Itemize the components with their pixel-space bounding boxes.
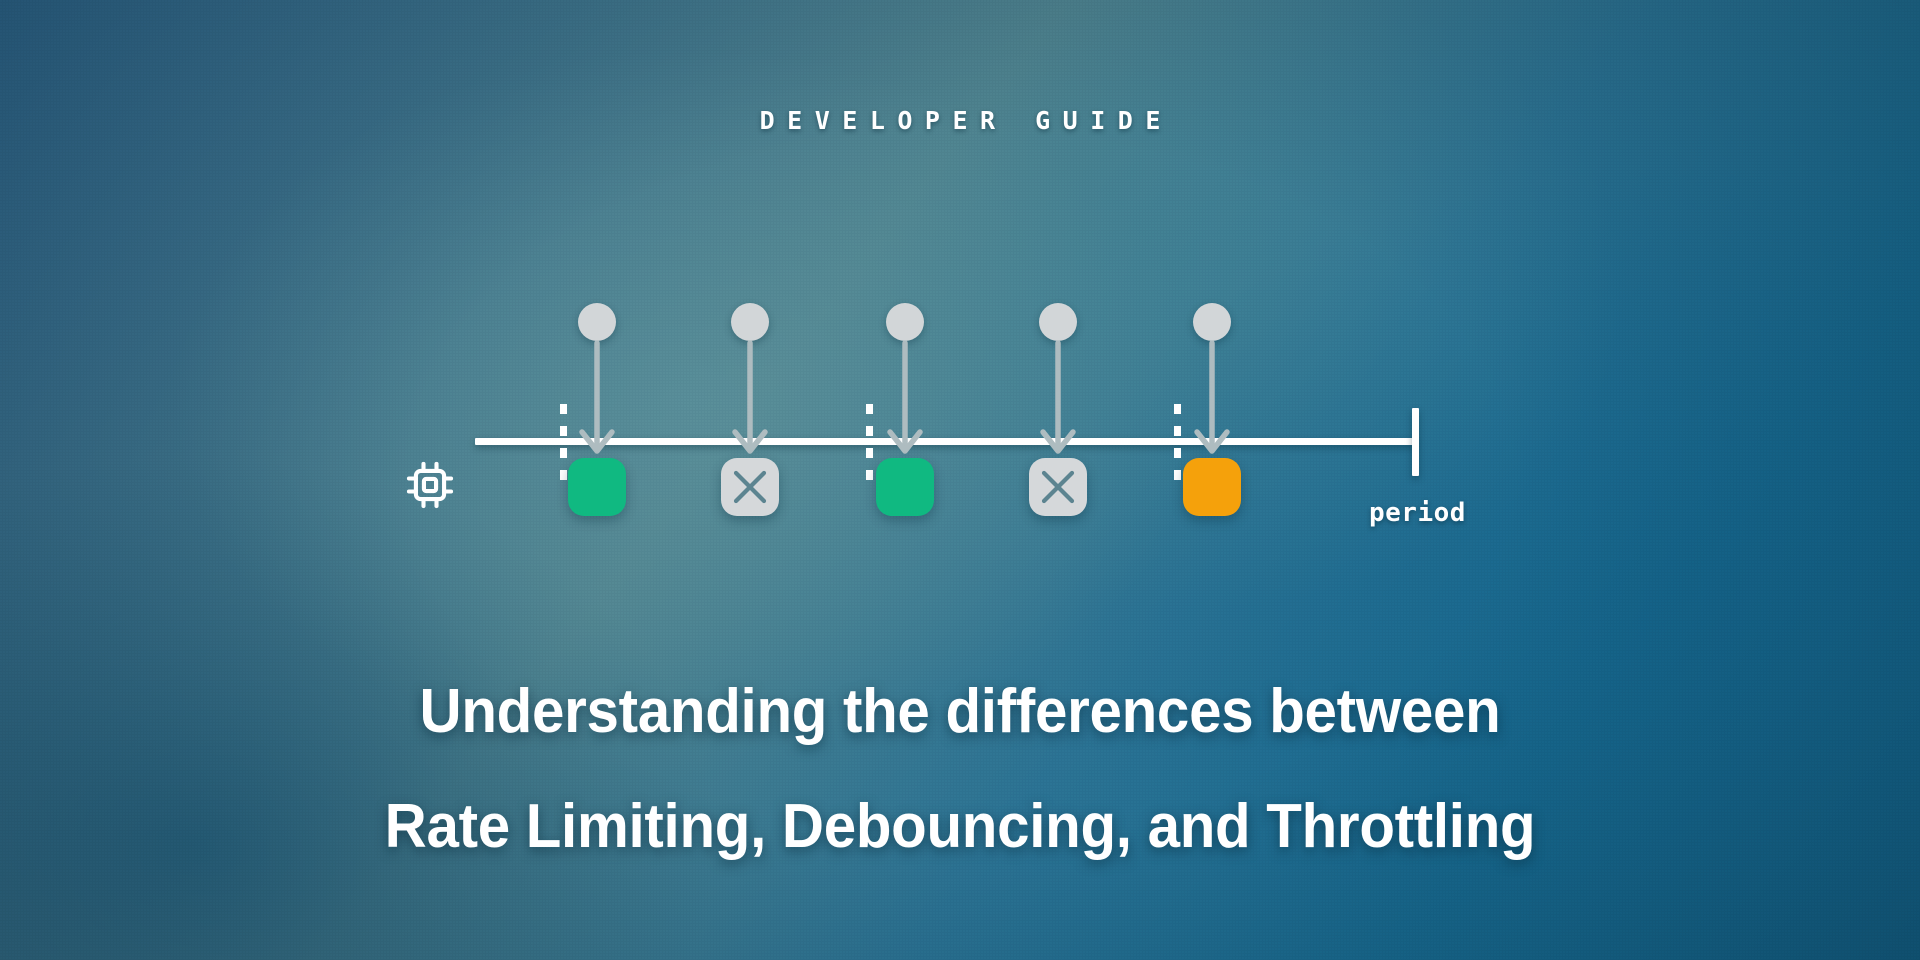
circle-event-dot[interactable]: [578, 303, 616, 341]
circle-event-dot[interactable]: [731, 303, 769, 341]
x-mark-icon: [1029, 458, 1087, 516]
period-marker: [560, 404, 567, 481]
arrow-down-icon: [1036, 337, 1080, 469]
period-marker: [866, 404, 873, 481]
arrow-down-icon: [1190, 337, 1234, 469]
timeline-end-tick: [1412, 408, 1419, 476]
cpu-chip-icon: [404, 459, 456, 511]
request-slot-queued[interactable]: [1183, 458, 1241, 516]
request-slot-allowed[interactable]: [568, 458, 626, 516]
circle-event-dot[interactable]: [1039, 303, 1077, 341]
x-mark-icon: [721, 458, 779, 516]
period-marker: [1174, 404, 1181, 481]
arrow-down-icon: [728, 337, 772, 469]
circle-event-dot[interactable]: [886, 303, 924, 341]
eyebrow-label: DEVELOPER GUIDE: [0, 106, 1920, 135]
headline-line-2: Rate Limiting, Debouncing, and Throttlin…: [58, 769, 1863, 884]
period-label: period: [1369, 498, 1466, 528]
page-title: Understanding the differences between Ra…: [0, 654, 1920, 884]
circle-event-dot[interactable]: [1193, 303, 1231, 341]
headline-line-1: Understanding the differences between: [58, 654, 1863, 769]
arrow-down-icon: [575, 337, 619, 469]
arrow-down-icon: [883, 337, 927, 469]
request-slot-blocked[interactable]: [721, 458, 779, 516]
request-slot-allowed[interactable]: [876, 458, 934, 516]
request-slot-blocked[interactable]: [1029, 458, 1087, 516]
